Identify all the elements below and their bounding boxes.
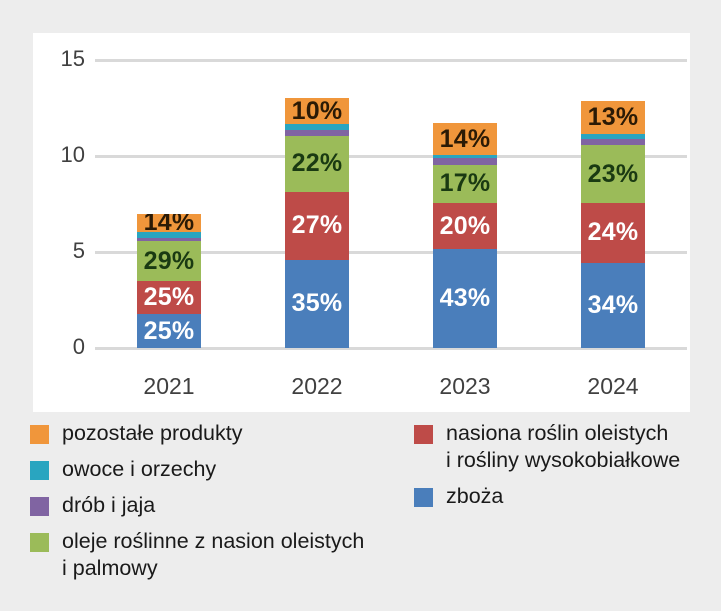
legend-item[interactable]: zboża: [414, 483, 714, 510]
bar-group-2021[interactable]: 25%25%29%14%: [137, 214, 201, 348]
legend-item-label: owoce i orzechy: [62, 456, 216, 483]
bar-group-2022[interactable]: 35%27%22%10%: [285, 98, 349, 348]
bar-segment[interactable]: 25%: [137, 314, 201, 348]
bar-segment-value-label: 20%: [440, 214, 491, 239]
legend-item-label: pozostałe produkty: [62, 420, 242, 447]
bar-segment[interactable]: 13%: [581, 101, 645, 134]
bar-segment-value-label: 24%: [588, 220, 639, 245]
bar-segment[interactable]: 43%: [433, 249, 497, 348]
y-axis-tick-15: 15: [41, 48, 85, 70]
bar-segment[interactable]: 25%: [137, 281, 201, 315]
bar-group-2024[interactable]: 34%24%23%13%: [581, 101, 645, 348]
y-axis-tick-0: 0: [41, 336, 85, 358]
bar-segment[interactable]: 34%: [581, 263, 645, 348]
bar-segment-value-label: 35%: [292, 291, 343, 316]
bar-segment[interactable]: 14%: [137, 214, 201, 233]
legend-column-left: pozostałe produktyowoce i orzechydrób i …: [30, 420, 420, 591]
chart-legend: pozostałe produktyowoce i orzechydrób i …: [0, 420, 721, 611]
legend-item-label: zboża: [446, 483, 503, 510]
bar-segment[interactable]: 24%: [581, 203, 645, 263]
bar-segment[interactable]: 27%: [285, 192, 349, 260]
x-axis-label-2021: 2021: [109, 375, 229, 398]
bars-layer: 25%25%29%14%35%27%22%10%43%20%17%14%34%2…: [95, 33, 687, 412]
bar-segment-value-label: 13%: [588, 105, 639, 130]
legend-swatch-owoce-i-orzechy: [30, 461, 49, 480]
bar-segment[interactable]: 22%: [285, 136, 349, 192]
legend-column-right: nasiona roślin oleistych i rośliny wysok…: [414, 420, 714, 519]
x-axis-label-2023: 2023: [405, 375, 525, 398]
y-axis-tick-10: 10: [41, 144, 85, 166]
bar-segment[interactable]: 29%: [137, 241, 201, 280]
bar-segment[interactable]: 23%: [581, 145, 645, 203]
bar-segment-value-label: 14%: [440, 127, 491, 152]
bar-segment-value-label: 17%: [440, 171, 491, 196]
bar-segment-value-label: 25%: [144, 285, 195, 310]
legend-swatch-pozostale-produkty: [30, 425, 49, 444]
bar-segment-value-label: 22%: [292, 151, 343, 176]
bar-segment[interactable]: 17%: [433, 165, 497, 203]
bar-segment[interactable]: [433, 158, 497, 165]
legend-swatch-drob-i-jaja: [30, 497, 49, 516]
y-axis-tick-5: 5: [41, 240, 85, 262]
x-axis-label-2022: 2022: [257, 375, 377, 398]
bar-group-2023[interactable]: 43%20%17%14%: [433, 123, 497, 348]
legend-item[interactable]: nasiona roślin oleistych i rośliny wysok…: [414, 420, 714, 474]
legend-item[interactable]: owoce i orzechy: [30, 456, 420, 483]
legend-item[interactable]: drób i jaja: [30, 492, 420, 519]
bar-segment[interactable]: 20%: [433, 203, 497, 249]
bar-segment-value-label: 10%: [292, 99, 343, 124]
bar-segment-value-label: 43%: [440, 286, 491, 311]
bar-segment-value-label: 23%: [588, 162, 639, 187]
bar-segment[interactable]: 35%: [285, 260, 349, 348]
bar-segment-value-label: 29%: [144, 249, 195, 274]
legend-swatch-oleje-roslinne: [30, 533, 49, 552]
bar-segment[interactable]: 14%: [433, 123, 497, 155]
legend-item[interactable]: oleje roślinne z nasion oleistych i palm…: [30, 528, 420, 582]
legend-item-label: oleje roślinne z nasion oleistych i palm…: [62, 528, 364, 582]
legend-item-label: drób i jaja: [62, 492, 155, 519]
legend-item-label: nasiona roślin oleistych i rośliny wysok…: [446, 420, 680, 474]
legend-item[interactable]: pozostałe produkty: [30, 420, 420, 447]
bar-segment-value-label: 14%: [144, 214, 195, 233]
bar-segment-value-label: 27%: [292, 213, 343, 238]
bar-segment-value-label: 34%: [588, 293, 639, 318]
legend-swatch-nasiona-roslin-oleistych: [414, 425, 433, 444]
bar-segment[interactable]: 10%: [285, 98, 349, 124]
legend-swatch-zboza: [414, 488, 433, 507]
bar-segment-value-label: 25%: [144, 319, 195, 344]
x-axis-label-2024: 2024: [553, 375, 673, 398]
chart-panel: 051015 25%25%29%14%35%27%22%10%43%20%17%…: [33, 33, 690, 412]
